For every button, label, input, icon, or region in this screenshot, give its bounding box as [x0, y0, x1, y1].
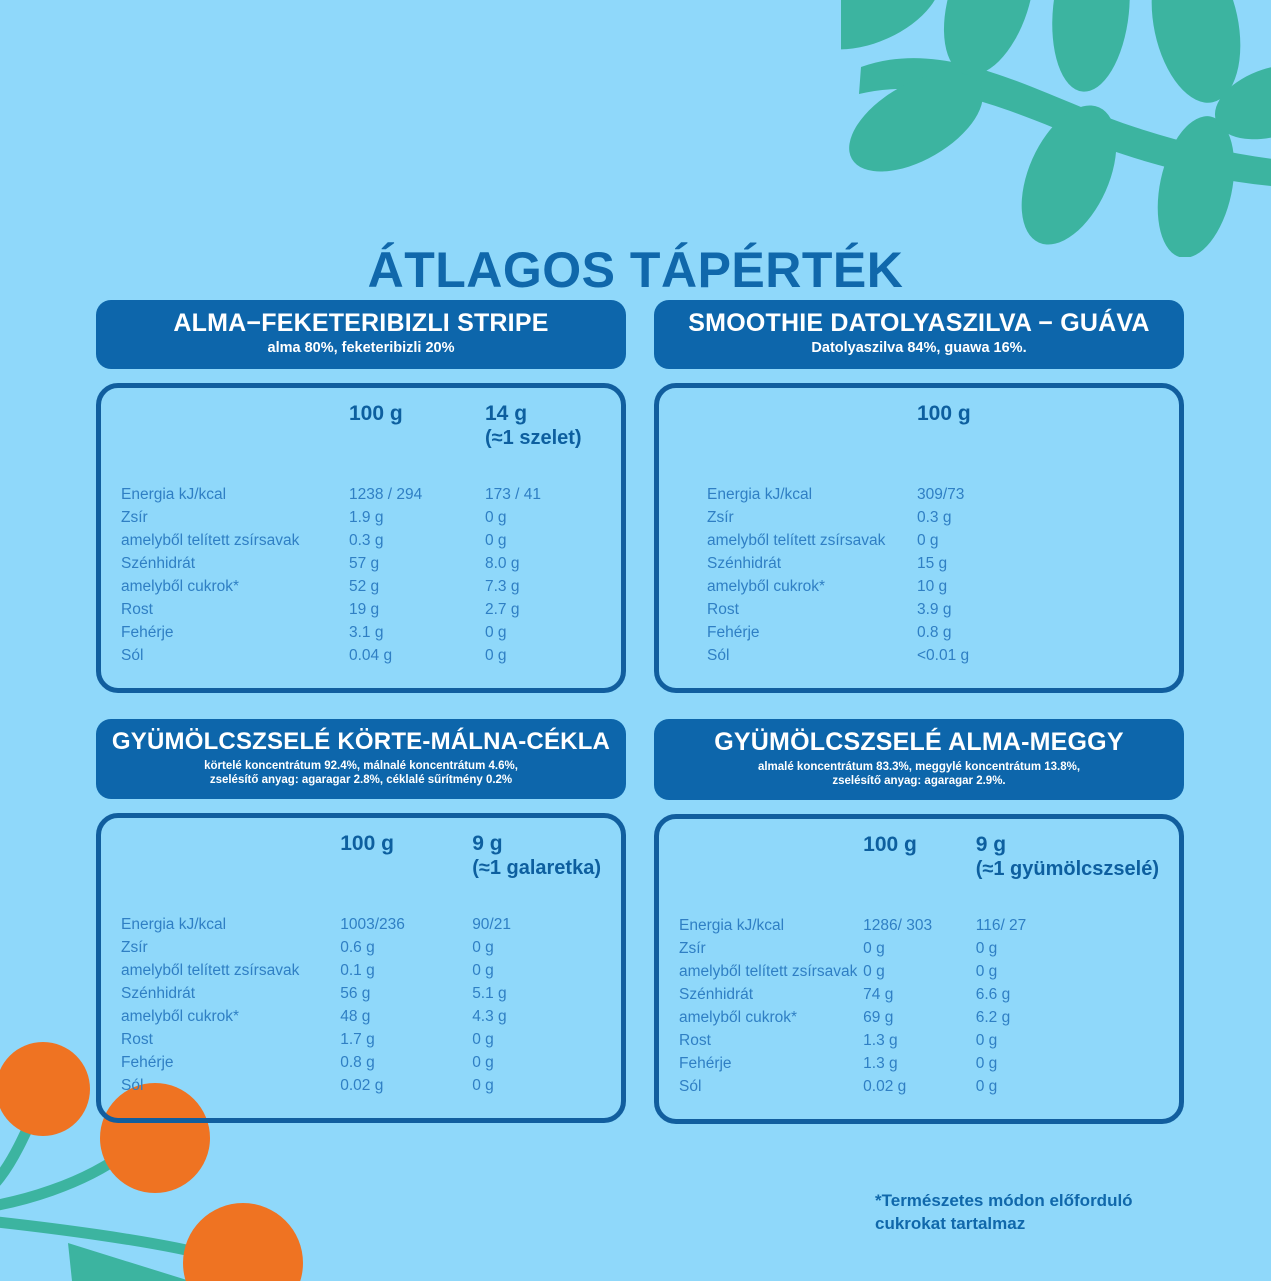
table-row: Fehérje0.8 g [707, 622, 1159, 645]
page-title: ÁTLAGOS TÁPÉRTÉK [0, 241, 1271, 299]
row-label: Szénhidrát [121, 553, 349, 576]
row-label: Sól [679, 1076, 863, 1099]
row-value-100g: 1286/ 303 [863, 915, 976, 938]
row-label: amelyből telített zsírsavak [707, 530, 917, 553]
column-header-portion: 9 g (≈1 galaretka) [472, 832, 601, 914]
table-row: amelyből telített zsírsavak0 g [707, 530, 1159, 553]
row-label: Zsír [121, 507, 349, 530]
row-label: Fehérje [707, 622, 917, 645]
table-row: Rost1.7 g0 g [121, 1029, 601, 1052]
column-header-100g: 100 g [917, 402, 1159, 484]
column-header-portion: 14 g (≈1 szelet) [485, 402, 601, 484]
row-value-portion: 4.3 g [472, 1006, 601, 1029]
row-value-portion: 90/21 [472, 914, 601, 937]
table-row: Energia kJ/kcal1286/ 303116/ 27 [679, 915, 1159, 938]
table-row: Zsír1.9 g0 g [121, 507, 601, 530]
row-value-100g: 69 g [863, 1007, 976, 1030]
table-row: Szénhidrát57 g8.0 g [121, 553, 601, 576]
row-label: Zsír [707, 507, 917, 530]
card-title: GYÜMÖLCSZSELÉ ALMA-MEGGY [668, 729, 1170, 756]
row-value-100g: 1238 / 294 [349, 484, 485, 507]
card-subtitle-line1: körtelé koncentrátum 92.4%, málnalé konc… [110, 759, 612, 773]
card-banner: GYÜMÖLCSZSELÉ KÖRTE-MÁLNA-CÉKLA körtelé … [96, 719, 626, 800]
table-row: Energia kJ/kcal309/73 [707, 484, 1159, 507]
table-row: amelyből cukrok*69 g6.2 g [679, 1007, 1159, 1030]
table-header-row: 100 g 9 g (≈1 galaretka) [121, 832, 601, 914]
row-value-100g: 0.6 g [340, 937, 472, 960]
card-body: 100 g 9 g (≈1 gyümölcszselé) Energia kJ/… [654, 814, 1184, 1124]
row-value-100g: 1.3 g [863, 1053, 976, 1076]
row-value-100g: 52 g [349, 576, 485, 599]
row-label: Fehérje [679, 1053, 863, 1076]
row-value-portion: 7.3 g [485, 576, 601, 599]
table-row: Energia kJ/kcal1238 / 294173 / 41 [121, 484, 601, 507]
card-banner: GYÜMÖLCSZSELÉ ALMA-MEGGY almalé koncentr… [654, 719, 1184, 801]
card-subtitle-line2: zselésítő anyag: agaragar 2.8%, céklalé … [110, 773, 612, 787]
row-label: Energia kJ/kcal [707, 484, 917, 507]
row-label: Zsír [679, 938, 863, 961]
row-value-portion: 0 g [485, 622, 601, 645]
row-value-portion: 0 g [485, 507, 601, 530]
table-row: Rost19 g2.7 g [121, 599, 601, 622]
row-value-100g: 0.3 g [349, 530, 485, 553]
row-value-portion: 5.1 g [472, 983, 601, 1006]
row-value-portion: 6.2 g [976, 1007, 1159, 1030]
table-row: Sól0.04 g0 g [121, 645, 601, 668]
row-label: Rost [707, 599, 917, 622]
sugar-footnote: *Természetes módon előforduló cukrokat t… [875, 1190, 1175, 1236]
nutrition-card-grid: ALMA−FEKETERIBIZLI STRIPE alma 80%, feke… [96, 300, 1184, 1124]
table-row: amelyből telített zsírsavak0.1 g0 g [121, 960, 601, 983]
row-label: amelyből telített zsírsavak [679, 961, 863, 984]
table-row: Sól0.02 g0 g [121, 1075, 601, 1098]
table-row: amelyből cukrok*48 g4.3 g [121, 1006, 601, 1029]
row-value-portion: 0 g [976, 938, 1159, 961]
row-value-100g: 0.3 g [917, 507, 1159, 530]
row-label: Rost [121, 599, 349, 622]
row-value-100g: 57 g [349, 553, 485, 576]
table-row: Zsír0 g0 g [679, 938, 1159, 961]
row-label: amelyből cukrok* [679, 1007, 863, 1030]
row-value-portion: 0 g [472, 960, 601, 983]
row-value-portion: 173 / 41 [485, 484, 601, 507]
row-label: Energia kJ/kcal [679, 915, 863, 938]
nutrition-card-smoothie-datolyaszilva-guava: SMOOTHIE DATOLYASZILVA − GUÁVA Datolyasz… [654, 300, 1184, 693]
row-value-100g: 3.9 g [917, 599, 1159, 622]
table-row: Fehérje1.3 g0 g [679, 1053, 1159, 1076]
row-label: amelyből cukrok* [707, 576, 917, 599]
row-value-100g: 10 g [917, 576, 1159, 599]
row-label: Fehérje [121, 1052, 340, 1075]
row-value-100g: 0.04 g [349, 645, 485, 668]
row-value-portion: 0 g [976, 1053, 1159, 1076]
card-title: ALMA−FEKETERIBIZLI STRIPE [110, 310, 612, 337]
header-blank [707, 402, 917, 484]
row-value-100g: 0.02 g [340, 1075, 472, 1098]
leaf-branch-decoration [841, 0, 1271, 257]
nutrition-table: 100 g 9 g (≈1 gyümölcszselé) Energia kJ/… [679, 833, 1159, 1099]
nutrition-table: 100 g 14 g (≈1 szelet) Energia kJ/kcal12… [121, 402, 601, 668]
row-value-portion: 0 g [976, 961, 1159, 984]
column-header-100g: 100 g [349, 402, 485, 484]
row-value-100g: 1.9 g [349, 507, 485, 530]
row-label: Zsír [121, 937, 340, 960]
footnote-line2: cukrokat tartalmaz [875, 1213, 1175, 1236]
table-row: amelyből cukrok*10 g [707, 576, 1159, 599]
row-value-100g: 15 g [917, 553, 1159, 576]
table-row: Sól<0.01 g [707, 645, 1159, 668]
table-row: Fehérje0.8 g0 g [121, 1052, 601, 1075]
table-row: Szénhidrát56 g5.1 g [121, 983, 601, 1006]
row-value-100g: 0 g [863, 961, 976, 984]
table-row: amelyből telített zsírsavak0.3 g0 g [121, 530, 601, 553]
row-label: amelyből cukrok* [121, 576, 349, 599]
row-value-portion: 8.0 g [485, 553, 601, 576]
row-value-100g: <0.01 g [917, 645, 1159, 668]
row-value-100g: 309/73 [917, 484, 1159, 507]
row-label: amelyből telített zsírsavak [121, 530, 349, 553]
nutrition-table: 100 g 9 g (≈1 galaretka) Energia kJ/kcal… [121, 832, 601, 1098]
table-header-row: 100 g [707, 402, 1159, 484]
table-row: Szénhidrát15 g [707, 553, 1159, 576]
table-row: Rost3.9 g [707, 599, 1159, 622]
row-value-100g: 1.3 g [863, 1030, 976, 1053]
column-header-100g: 100 g [863, 833, 976, 915]
header-blank [121, 402, 349, 484]
card-body: 100 g 14 g (≈1 szelet) Energia kJ/kcal12… [96, 383, 626, 693]
infographic-page: ÁTLAGOS TÁPÉRTÉK ALMA−FEKETERIBIZLI STRI… [0, 0, 1271, 1271]
card-subtitle-line1: almalé koncentrátum 83.3%, meggylé konce… [668, 760, 1170, 774]
row-value-100g: 0 g [917, 530, 1159, 553]
row-value-100g: 0 g [863, 938, 976, 961]
table-row: Zsír0.6 g0 g [121, 937, 601, 960]
table-row: amelyből telített zsírsavak0 g0 g [679, 961, 1159, 984]
card-title: SMOOTHIE DATOLYASZILVA − GUÁVA [668, 310, 1170, 337]
row-label: amelyből cukrok* [121, 1006, 340, 1029]
row-label: Rost [679, 1030, 863, 1053]
card-subtitle-line2: zselésítő anyag: agaragar 2.9%. [668, 774, 1170, 788]
row-value-100g: 48 g [340, 1006, 472, 1029]
row-label: Sól [121, 1075, 340, 1098]
row-label: Fehérje [121, 622, 349, 645]
card-body: 100 g 9 g (≈1 galaretka) Energia kJ/kcal… [96, 813, 626, 1123]
row-value-100g: 0.8 g [917, 622, 1159, 645]
table-row: amelyből cukrok*52 g7.3 g [121, 576, 601, 599]
row-value-portion: 6.6 g [976, 984, 1159, 1007]
header-blank [121, 832, 340, 914]
row-value-100g: 0.8 g [340, 1052, 472, 1075]
column-header-portion: 9 g (≈1 gyümölcszselé) [976, 833, 1159, 915]
card-title: GYÜMÖLCSZSELÉ KÖRTE-MÁLNA-CÉKLA [110, 729, 612, 755]
column-header-100g: 100 g [340, 832, 472, 914]
row-value-portion: 0 g [472, 937, 601, 960]
row-label: amelyből telített zsírsavak [121, 960, 340, 983]
row-label: Energia kJ/kcal [121, 484, 349, 507]
nutrition-card-gyumolcszsele-alma-meggy: GYÜMÖLCSZSELÉ ALMA-MEGGY almalé koncentr… [654, 719, 1184, 1124]
header-blank [679, 833, 863, 915]
card-body: 100 g Energia kJ/kcal309/73 Zsír0.3 g am… [654, 383, 1184, 693]
row-value-100g: 56 g [340, 983, 472, 1006]
card-subtitle: alma 80%, feketeribizli 20% [110, 340, 612, 357]
row-value-100g: 1003/236 [340, 914, 472, 937]
table-row: Sól0.02 g0 g [679, 1076, 1159, 1099]
card-banner: SMOOTHIE DATOLYASZILVA − GUÁVA Datolyasz… [654, 300, 1184, 369]
nutrition-card-alma-feketeribizli-stripe: ALMA−FEKETERIBIZLI STRIPE alma 80%, feke… [96, 300, 626, 693]
nutrition-table: 100 g Energia kJ/kcal309/73 Zsír0.3 g am… [707, 402, 1159, 668]
row-label: Szénhidrát [121, 983, 340, 1006]
row-value-portion: 0 g [472, 1075, 601, 1098]
row-value-100g: 19 g [349, 599, 485, 622]
table-row: Rost1.3 g0 g [679, 1030, 1159, 1053]
footnote-line1: *Természetes módon előforduló [875, 1190, 1175, 1213]
row-value-portion: 0 g [485, 645, 601, 668]
row-value-100g: 0.02 g [863, 1076, 976, 1099]
row-value-100g: 1.7 g [340, 1029, 472, 1052]
table-row: Szénhidrát74 g6.6 g [679, 984, 1159, 1007]
row-label: Szénhidrát [707, 553, 917, 576]
row-value-portion: 0 g [472, 1052, 601, 1075]
table-header-row: 100 g 9 g (≈1 gyümölcszselé) [679, 833, 1159, 915]
row-value-100g: 0.1 g [340, 960, 472, 983]
row-value-100g: 3.1 g [349, 622, 485, 645]
table-row: Zsír0.3 g [707, 507, 1159, 530]
table-header-row: 100 g 14 g (≈1 szelet) [121, 402, 601, 484]
row-value-portion: 0 g [976, 1076, 1159, 1099]
table-row: Energia kJ/kcal1003/23690/21 [121, 914, 601, 937]
table-row: Fehérje3.1 g0 g [121, 622, 601, 645]
nutrition-card-gyumolcszsele-korte-malna-cekla: GYÜMÖLCSZSELÉ KÖRTE-MÁLNA-CÉKLA körtelé … [96, 719, 626, 1124]
row-label: Energia kJ/kcal [121, 914, 340, 937]
card-banner: ALMA−FEKETERIBIZLI STRIPE alma 80%, feke… [96, 300, 626, 369]
row-label: Szénhidrát [679, 984, 863, 1007]
row-value-portion: 0 g [485, 530, 601, 553]
card-subtitle: Datolyaszilva 84%, guawa 16%. [668, 340, 1170, 357]
row-label: Sól [121, 645, 349, 668]
row-value-portion: 2.7 g [485, 599, 601, 622]
row-value-portion: 116/ 27 [976, 915, 1159, 938]
row-label: Sól [707, 645, 917, 668]
row-value-100g: 74 g [863, 984, 976, 1007]
row-label: Rost [121, 1029, 340, 1052]
row-value-portion: 0 g [472, 1029, 601, 1052]
row-value-portion: 0 g [976, 1030, 1159, 1053]
